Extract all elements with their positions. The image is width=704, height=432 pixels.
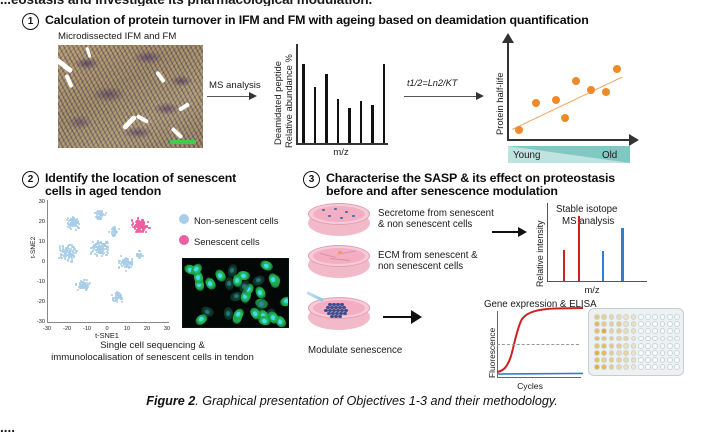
cut-off-top-text: ...eostasis and investigate its pharmaco… bbox=[0, 0, 704, 6]
elisa-well bbox=[660, 336, 666, 342]
elisa-well bbox=[667, 343, 673, 349]
elisa-well bbox=[616, 343, 622, 349]
modulate-arrow-line bbox=[383, 316, 413, 318]
elisa-well bbox=[631, 364, 637, 370]
legend-label-senescent: Senescent cells bbox=[194, 236, 260, 247]
tsne-ytick: 0 bbox=[32, 257, 45, 268]
ms-analysis-arrow-head bbox=[249, 92, 257, 100]
elisa-well bbox=[667, 314, 673, 320]
qpcr-curves bbox=[497, 306, 583, 378]
scatter-ylabel: Protein half-life bbox=[494, 72, 505, 135]
isotope-ms-xaxis bbox=[547, 281, 647, 282]
elisa-well bbox=[623, 328, 629, 334]
ms-plot-bar bbox=[337, 99, 340, 143]
isotope-ms-title-line1: Stable isotope bbox=[556, 204, 617, 215]
half-life-arrow-head bbox=[476, 92, 484, 100]
qpcr-ylabel: Fluorescence bbox=[487, 328, 497, 378]
elisa-well bbox=[667, 336, 673, 342]
scatter-point bbox=[572, 77, 580, 85]
elisa-well bbox=[616, 357, 622, 363]
tsne-point-senescent bbox=[141, 219, 143, 221]
elisa-well bbox=[631, 314, 637, 320]
elisa-well bbox=[638, 328, 644, 334]
cell-nucleus bbox=[227, 281, 231, 286]
ms-plot-bar bbox=[325, 74, 328, 143]
elisa-well bbox=[609, 314, 615, 320]
objective-3-title-line1: Characterise the SASP & its effect on pr… bbox=[326, 172, 704, 185]
ms-plot-bar bbox=[360, 101, 363, 143]
objective-2-number: 2 bbox=[22, 171, 39, 188]
ms-plot-xaxis bbox=[296, 143, 388, 145]
tsne-ytick: 10 bbox=[32, 237, 45, 248]
tsne-point-non-senescent bbox=[82, 283, 84, 285]
isotope-peak bbox=[578, 216, 580, 281]
tsne-point-non-senescent bbox=[131, 258, 133, 260]
tsne-point-non-senescent bbox=[93, 245, 95, 247]
elisa-well bbox=[674, 328, 680, 334]
tsne-point-non-senescent bbox=[86, 279, 88, 281]
cell-nucleus bbox=[253, 310, 259, 316]
elisa-well bbox=[616, 321, 622, 327]
cell-nucleus bbox=[204, 308, 210, 314]
elisa-well bbox=[645, 357, 651, 363]
cell-nucleus bbox=[241, 283, 247, 289]
isotope-peak bbox=[621, 228, 623, 281]
elisa-well bbox=[631, 343, 637, 349]
tsne-point-non-senescent bbox=[120, 295, 122, 297]
tsne-point-senescent bbox=[145, 231, 147, 233]
elisa-well bbox=[638, 343, 644, 349]
elisa-plate bbox=[588, 308, 684, 376]
tsne-point-non-senescent bbox=[118, 260, 120, 262]
tsne-point-non-senescent bbox=[105, 254, 107, 256]
modulate-arrow-head bbox=[411, 310, 422, 324]
elisa-well bbox=[638, 314, 644, 320]
petri-dish-secretome bbox=[308, 203, 370, 237]
elisa-well bbox=[623, 336, 629, 342]
scale-bar bbox=[170, 140, 196, 144]
ms-analysis-arrow-line bbox=[207, 96, 251, 97]
scatter-yaxis bbox=[507, 42, 509, 141]
elisa-well bbox=[631, 350, 637, 356]
scatter-point bbox=[515, 126, 523, 134]
elisa-well bbox=[623, 343, 629, 349]
cell-nucleus bbox=[271, 277, 276, 283]
objective-3-number: 3 bbox=[303, 171, 320, 188]
immunofluorescence-image bbox=[182, 258, 289, 328]
tsne-point-non-senescent bbox=[130, 266, 132, 268]
tsne-point-non-senescent bbox=[81, 284, 83, 286]
tsne-point-senescent bbox=[147, 221, 149, 223]
tsne-xtick: 30 bbox=[159, 324, 175, 335]
elisa-well bbox=[645, 350, 651, 356]
cell-nucleus bbox=[271, 314, 276, 320]
cell-nucleus bbox=[263, 262, 269, 268]
scatter-point bbox=[613, 65, 621, 73]
elisa-well bbox=[667, 321, 673, 327]
qpcr-threshold-line bbox=[497, 344, 579, 345]
fluorescent-cell bbox=[258, 258, 274, 273]
tsne-point-non-senescent bbox=[73, 255, 75, 257]
scatter-trendline bbox=[512, 76, 623, 130]
elisa-well bbox=[645, 328, 651, 334]
legend-label-non-senescent: Non-senescent cells bbox=[194, 215, 278, 226]
elisa-well bbox=[594, 314, 600, 320]
petri-dish-modulate bbox=[308, 297, 370, 331]
legend-swatch-non-senescent bbox=[179, 214, 189, 224]
elisa-well bbox=[638, 364, 644, 370]
elisa-well bbox=[609, 343, 615, 349]
tsne-point-non-senescent bbox=[99, 214, 101, 216]
tsne-point-cloud bbox=[47, 200, 169, 322]
scatter-point bbox=[602, 88, 610, 96]
microdissected-tissue-image bbox=[58, 45, 203, 148]
elisa-well bbox=[652, 364, 658, 370]
elisa-well bbox=[594, 321, 600, 327]
tsne-point-non-senescent bbox=[69, 251, 71, 253]
elisa-well bbox=[616, 328, 622, 334]
tsne-point-senescent bbox=[144, 226, 146, 228]
figure-caption-prefix: Figure 2 bbox=[146, 394, 195, 408]
tsne-point-non-senescent bbox=[100, 217, 102, 219]
tsne-point-non-senescent bbox=[102, 245, 104, 247]
cell-nucleus bbox=[235, 311, 241, 317]
qpcr-xlabel: Cycles bbox=[495, 381, 565, 392]
tsne-point-non-senescent bbox=[92, 250, 94, 252]
elisa-well bbox=[623, 364, 629, 370]
elisa-well bbox=[667, 328, 673, 334]
elisa-well bbox=[660, 321, 666, 327]
scatter-xaxis bbox=[507, 139, 631, 141]
isotope-ms-xlabel: m/z bbox=[562, 284, 622, 295]
tsne-point-non-senescent bbox=[121, 301, 123, 303]
tsne-point-non-senescent bbox=[139, 257, 141, 259]
objective-1-number: 1 bbox=[22, 13, 39, 30]
elisa-well bbox=[652, 328, 658, 334]
cell-nucleus bbox=[208, 280, 214, 286]
petri-dish-ecm bbox=[308, 245, 370, 279]
elisa-well bbox=[616, 336, 622, 342]
tsne-point-non-senescent bbox=[64, 258, 66, 260]
scatter-yaxis-arrowhead bbox=[502, 33, 514, 43]
elisa-well bbox=[616, 314, 622, 320]
isotope-peak bbox=[602, 251, 604, 281]
cell-nucleus bbox=[226, 311, 230, 316]
scatter-point bbox=[552, 96, 560, 104]
objective-2-footer-line2: immunolocalisation of senescent cells in… bbox=[20, 352, 285, 363]
elisa-well bbox=[674, 336, 680, 342]
elisa-well bbox=[660, 328, 666, 334]
ms-plot-ylabel-1: Deamidated peptide bbox=[272, 61, 283, 145]
elisa-well bbox=[601, 336, 607, 342]
elisa-well bbox=[674, 343, 680, 349]
tsne-point-non-senescent bbox=[116, 301, 118, 303]
tsne-point-non-senescent bbox=[126, 260, 128, 262]
elisa-well bbox=[623, 321, 629, 327]
elisa-well bbox=[594, 328, 600, 334]
elisa-well bbox=[674, 364, 680, 370]
elisa-well bbox=[601, 343, 607, 349]
dish-2-label-line1: ECM from senescent & bbox=[378, 250, 478, 261]
elisa-well bbox=[609, 357, 615, 363]
cell-nucleus bbox=[259, 302, 265, 308]
elisa-well bbox=[601, 350, 607, 356]
isotope-peak bbox=[563, 250, 565, 281]
elisa-well bbox=[631, 336, 637, 342]
elisa-well bbox=[616, 350, 622, 356]
tsne-point-non-senescent bbox=[81, 281, 83, 283]
objective-2-title-line1: Identify the location of senescent bbox=[45, 172, 295, 185]
tsne-xaxis bbox=[47, 322, 169, 323]
ms-analysis-arrow-label: MS analysis bbox=[209, 80, 261, 91]
elisa-well bbox=[645, 343, 651, 349]
elisa-well bbox=[652, 343, 658, 349]
figure-caption-text: . Graphical presentation of Objectives 1… bbox=[195, 394, 557, 408]
elisa-well bbox=[623, 350, 629, 356]
tsne-point-non-senescent bbox=[69, 225, 71, 227]
elisa-well bbox=[631, 328, 637, 334]
fluorescent-cell bbox=[251, 274, 266, 286]
elisa-well bbox=[623, 357, 629, 363]
elisa-well bbox=[652, 314, 658, 320]
scatter-point bbox=[587, 86, 595, 94]
cell-nucleus bbox=[199, 317, 205, 323]
tsne-point-senescent bbox=[135, 224, 137, 226]
ms-plot-bar bbox=[314, 87, 317, 143]
scatter-point bbox=[561, 114, 569, 122]
cell-nucleus bbox=[283, 299, 288, 304]
tsne-point-non-senescent bbox=[121, 265, 123, 267]
elisa-well bbox=[660, 364, 666, 370]
cell-nucleus bbox=[262, 318, 268, 324]
elisa-well bbox=[609, 321, 615, 327]
tsne-point-non-senescent bbox=[70, 248, 72, 250]
elisa-well bbox=[638, 321, 644, 327]
half-life-formula-label: t1/2=Ln2/KT bbox=[407, 78, 457, 89]
objective-2-title-line2: cells in aged tendon bbox=[45, 185, 295, 198]
tsne-point-non-senescent bbox=[77, 220, 79, 222]
cell-nucleus bbox=[218, 272, 224, 278]
tsne-point-non-senescent bbox=[118, 228, 120, 230]
elisa-well bbox=[601, 328, 607, 334]
elisa-well bbox=[645, 364, 651, 370]
elisa-well bbox=[601, 357, 607, 363]
cell-nucleus bbox=[255, 278, 261, 283]
tsne-point-non-senescent bbox=[62, 245, 64, 247]
ms-plot-bar bbox=[371, 105, 374, 143]
elisa-well bbox=[645, 321, 651, 327]
tsne-point-non-senescent bbox=[121, 297, 123, 299]
tsne-ytick: 30 bbox=[32, 197, 45, 208]
ms-plot-ylabel-2: Relative abundance % bbox=[283, 54, 294, 148]
tsne-point-non-senescent bbox=[106, 251, 108, 253]
tsne-point-non-senescent bbox=[114, 233, 116, 235]
tsne-point-non-senescent bbox=[118, 266, 120, 268]
elisa-well bbox=[652, 336, 658, 342]
tsne-point-non-senescent bbox=[106, 247, 108, 249]
tsne-point-non-senescent bbox=[75, 283, 77, 285]
dish-2-label-line2: non senescent cells bbox=[378, 261, 463, 272]
tsne-ytick: -10 bbox=[32, 277, 45, 288]
elisa-well bbox=[609, 336, 615, 342]
elisa-well bbox=[667, 350, 673, 356]
cell-nucleus bbox=[257, 289, 263, 295]
cell-nucleus bbox=[233, 295, 239, 300]
tsne-point-non-senescent bbox=[65, 249, 67, 251]
elisa-well bbox=[601, 314, 607, 320]
tsne-point-non-senescent bbox=[107, 242, 109, 244]
elisa-well bbox=[645, 314, 651, 320]
half-life-arrow-line bbox=[404, 96, 478, 97]
elisa-well bbox=[674, 350, 680, 356]
cell-nucleus bbox=[230, 268, 236, 274]
isotope-ms-ylabel: Relative intensity bbox=[535, 221, 545, 288]
band-label-young: Young bbox=[513, 150, 540, 161]
elisa-well bbox=[652, 321, 658, 327]
elisa-well bbox=[623, 314, 629, 320]
tsne-point-non-senescent bbox=[113, 228, 115, 230]
elisa-well bbox=[594, 343, 600, 349]
tsne-ytick: 20 bbox=[32, 217, 45, 228]
tsne-point-senescent bbox=[148, 227, 150, 229]
tsne-point-non-senescent bbox=[67, 259, 69, 261]
tsne-point-non-senescent bbox=[60, 257, 62, 259]
tsne-point-non-senescent bbox=[65, 255, 67, 257]
elisa-well bbox=[601, 321, 607, 327]
elisa-well bbox=[645, 336, 651, 342]
dish-3-label: Modulate senescence bbox=[308, 345, 402, 356]
elisa-well bbox=[638, 336, 644, 342]
tsne-point-non-senescent bbox=[125, 270, 127, 272]
elisa-well bbox=[594, 364, 600, 370]
elisa-well bbox=[667, 364, 673, 370]
tsne-point-non-senescent bbox=[84, 286, 86, 288]
tsne-point-non-senescent bbox=[120, 255, 122, 257]
cut-off-bottom-text: .... bbox=[0, 420, 704, 432]
objective-1-title: Calculation of protein turnover in IFM a… bbox=[45, 14, 685, 27]
elisa-well bbox=[652, 357, 658, 363]
elisa-well bbox=[674, 314, 680, 320]
tsne-point-non-senescent bbox=[136, 254, 138, 256]
elisa-well bbox=[667, 357, 673, 363]
objective-3-title-line2: before and after senescence modulation bbox=[326, 185, 704, 198]
tsne-point-non-senescent bbox=[115, 230, 117, 232]
cell-nucleus bbox=[193, 266, 199, 272]
cell-nucleus bbox=[236, 278, 240, 283]
elisa-well bbox=[660, 314, 666, 320]
fluorescent-cell bbox=[254, 284, 267, 299]
secretome-arrow-line bbox=[492, 231, 520, 233]
tsne-point-non-senescent bbox=[108, 231, 110, 233]
ms-plot-bar bbox=[302, 64, 305, 143]
elisa-well bbox=[594, 350, 600, 356]
elisa-well bbox=[652, 350, 658, 356]
fluorescent-cell bbox=[279, 296, 289, 307]
elisa-well bbox=[594, 357, 600, 363]
tsne-point-non-senescent bbox=[101, 255, 103, 257]
tsne-point-non-senescent bbox=[75, 223, 77, 225]
tsne-point-non-senescent bbox=[71, 260, 73, 262]
ms-plot-xlabel: m/z bbox=[306, 147, 376, 158]
elisa-well bbox=[638, 357, 644, 363]
elisa-well bbox=[674, 321, 680, 327]
isotope-ms-yaxis bbox=[547, 203, 548, 282]
tsne-ytick: -20 bbox=[32, 297, 45, 308]
elisa-well bbox=[616, 364, 622, 370]
dish-1-label-line2: & non senescent cells bbox=[378, 219, 472, 230]
microdissection-image-label: Microdissected IFM and FM bbox=[58, 31, 176, 42]
ms-plot-yaxis bbox=[296, 44, 298, 144]
tsne-point-senescent bbox=[137, 217, 139, 219]
legend-swatch-senescent bbox=[179, 235, 189, 245]
cell-nucleus bbox=[196, 274, 200, 279]
elisa-well bbox=[609, 350, 615, 356]
objective-2-footer-line1: Single cell sequencing & bbox=[20, 340, 285, 351]
elisa-well bbox=[631, 321, 637, 327]
figure-caption: Figure 2. Graphical presentation of Obje… bbox=[0, 394, 704, 408]
elisa-well bbox=[660, 343, 666, 349]
elisa-well bbox=[601, 364, 607, 370]
elisa-well bbox=[609, 364, 615, 370]
tsne-point-non-senescent bbox=[142, 255, 144, 257]
tsne-point-senescent bbox=[139, 225, 141, 227]
scatter-point bbox=[532, 99, 540, 107]
tsne-point-senescent bbox=[138, 227, 140, 229]
tsne-point-non-senescent bbox=[70, 228, 72, 230]
ms-plot-bar bbox=[348, 108, 351, 143]
tsne-xtick: -30 bbox=[39, 324, 55, 335]
elisa-well bbox=[638, 350, 644, 356]
elisa-well bbox=[674, 357, 680, 363]
tsne-point-non-senescent bbox=[75, 252, 77, 254]
ms-plot-bar bbox=[383, 64, 386, 143]
tsne-point-non-senescent bbox=[131, 260, 133, 262]
tsne-point-non-senescent bbox=[115, 294, 117, 296]
band-label-old: Old bbox=[602, 150, 617, 161]
dish-1-label-line1: Secretome from senescent bbox=[378, 208, 494, 219]
tsne-point-non-senescent bbox=[96, 254, 98, 256]
elisa-well bbox=[660, 350, 666, 356]
tsne-point-non-senescent bbox=[114, 300, 116, 302]
elisa-well bbox=[594, 336, 600, 342]
elisa-well bbox=[609, 328, 615, 334]
isotope-ms-title-line2: MS analysis bbox=[562, 216, 614, 227]
elisa-well bbox=[631, 357, 637, 363]
elisa-well bbox=[660, 357, 666, 363]
secretome-arrow-head bbox=[518, 227, 527, 237]
scatter-xaxis-arrowhead bbox=[629, 134, 639, 146]
